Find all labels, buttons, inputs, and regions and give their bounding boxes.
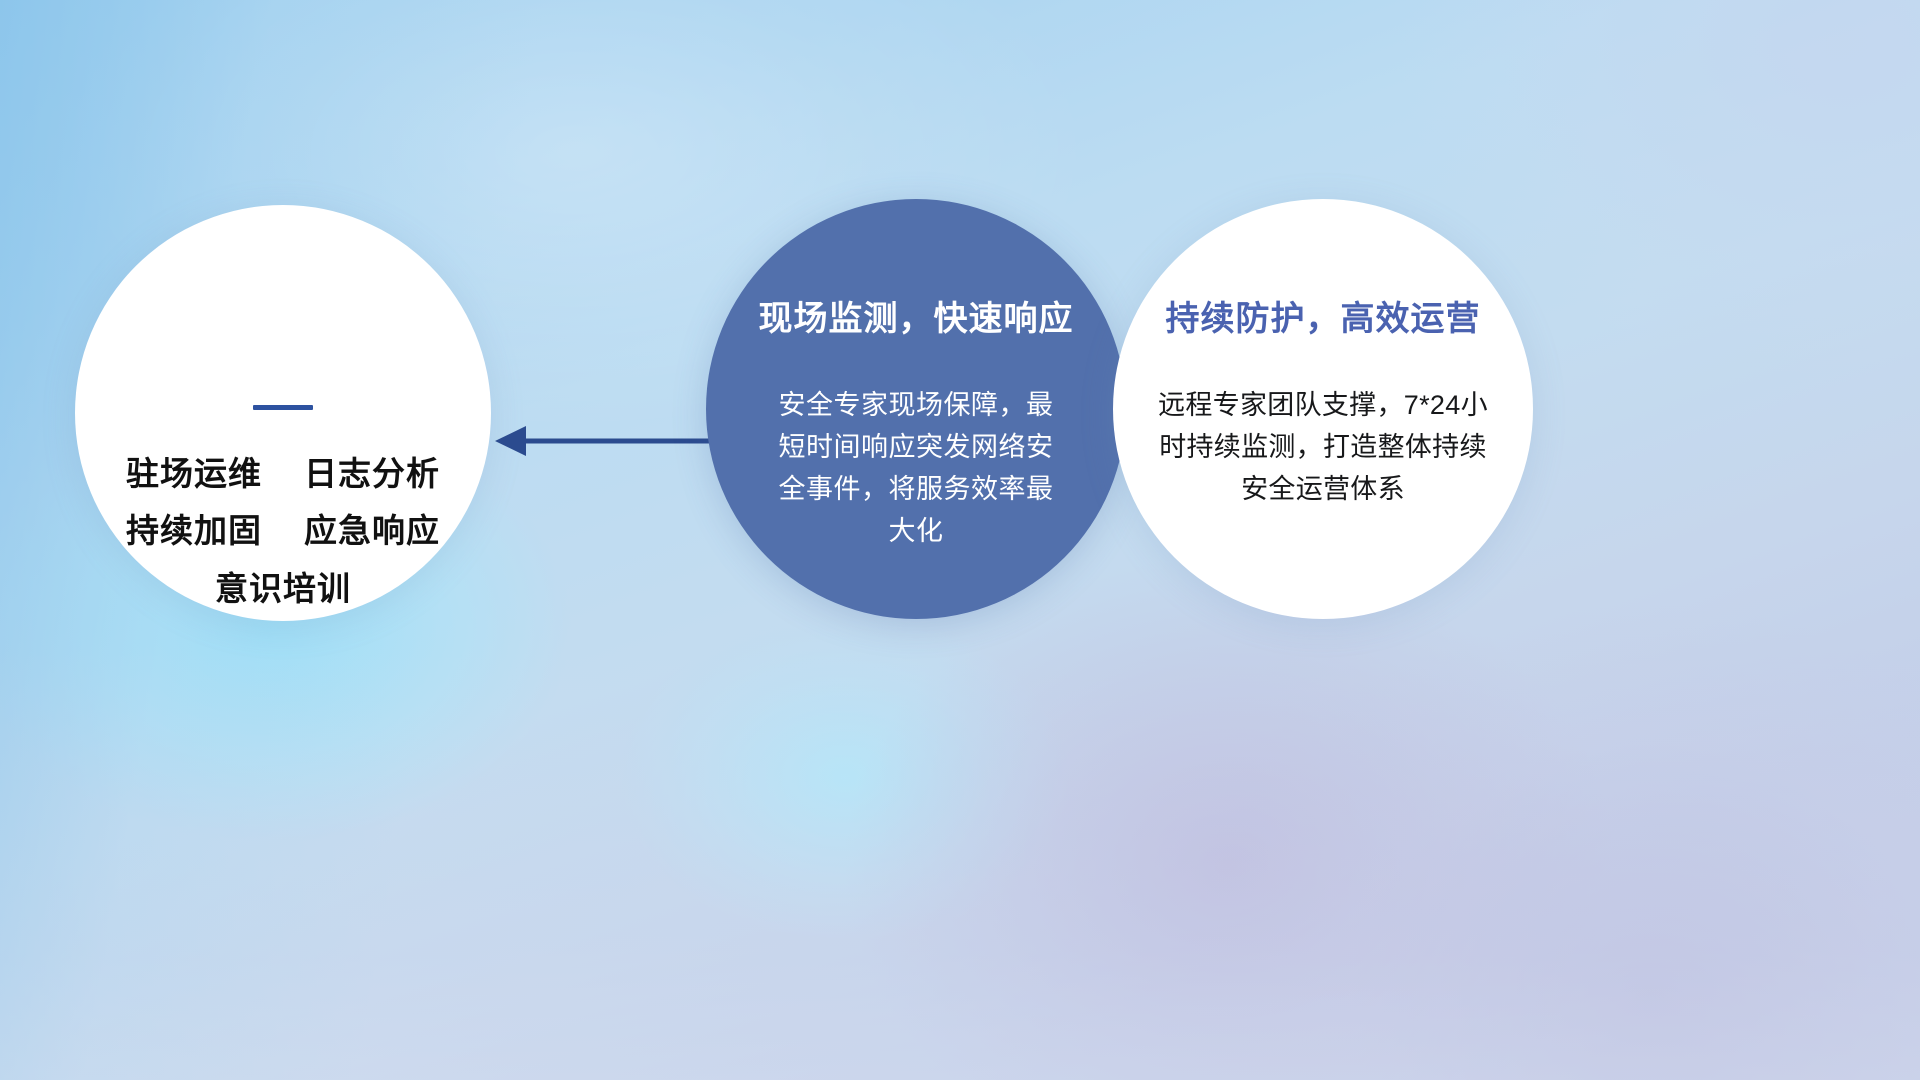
continuous-protection-circle[interactable]: 持续防护，高效运营 远程专家团队支撑，7*24小时持续监测，打造整体持续安全运营… (1113, 199, 1533, 619)
keyword-row: 持续加固 应急响应 (126, 510, 440, 551)
dash-accent-icon (253, 405, 313, 410)
keyword-item[interactable]: 意识培训 (215, 568, 351, 609)
onsite-monitoring-body: 安全专家现场保障，最短时间响应突发网络安全事件，将服务效率最大化 (766, 384, 1066, 552)
arrow-left-icon (490, 418, 715, 464)
keyword-item[interactable]: 驻场运维 (126, 453, 262, 494)
continuous-protection-title: 持续防护，高效运营 (1166, 291, 1481, 340)
keyword-row: 意识培训 (215, 568, 351, 609)
capabilities-circle[interactable]: 驻场运维 日志分析 持续加固 应急响应 意识培训 (75, 205, 491, 621)
keyword-item[interactable]: 日志分析 (304, 453, 440, 494)
capability-keyword-list: 驻场运维 日志分析 持续加固 应急响应 意识培训 (75, 453, 491, 609)
keyword-row: 驻场运维 日志分析 (126, 453, 440, 494)
slide-canvas: 驻场运维 日志分析 持续加固 应急响应 意识培训 现场监测，快速响应 安全专家现… (0, 0, 1920, 1080)
keyword-item[interactable]: 应急响应 (304, 510, 440, 551)
continuous-protection-body: 远程专家团队支撑，7*24小时持续监测，打造整体持续安全运营体系 (1151, 384, 1496, 510)
onsite-monitoring-title: 现场监测，快速响应 (759, 291, 1074, 340)
onsite-monitoring-circle[interactable]: 现场监测，快速响应 安全专家现场保障，最短时间响应突发网络安全事件，将服务效率最… (706, 199, 1126, 619)
keyword-item[interactable]: 持续加固 (126, 510, 262, 551)
